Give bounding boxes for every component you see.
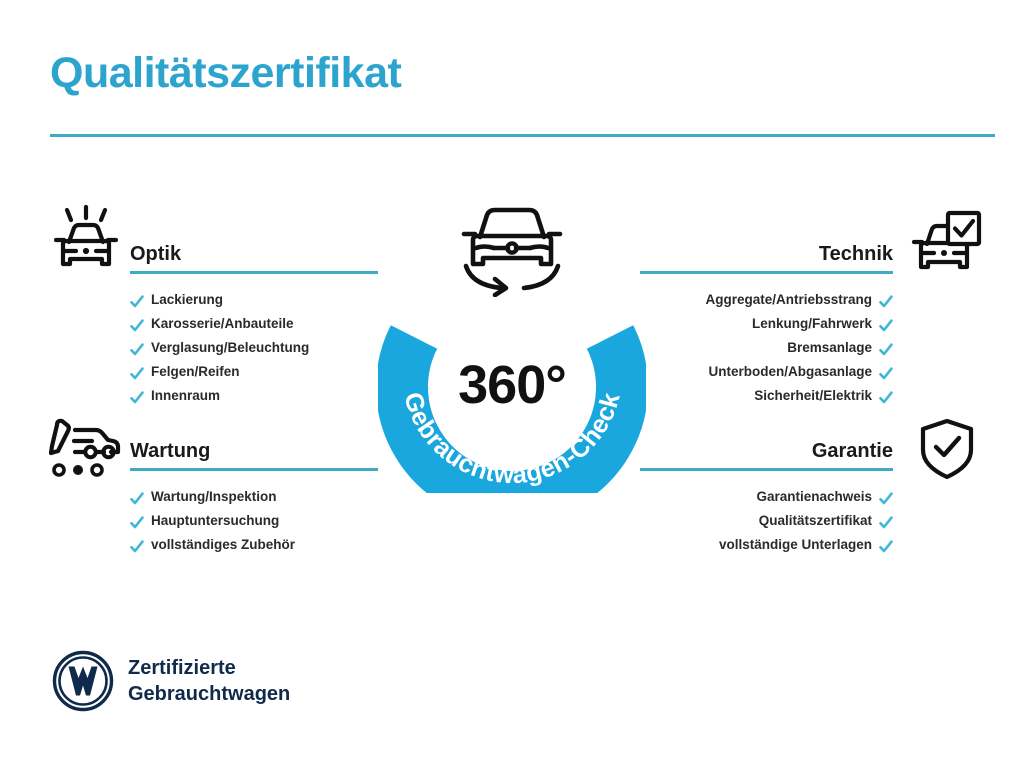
car-rotate-icon [454, 193, 570, 297]
check-icon [879, 490, 893, 504]
section-header: Garantie [640, 437, 893, 471]
list-item: Hauptuntersuchung [130, 509, 378, 533]
list-item: Lackierung [130, 288, 378, 312]
check-icon [130, 490, 144, 504]
list-item-label: Unterboden/Abgasanlage [708, 360, 872, 384]
section-divider [640, 271, 893, 274]
certificate-page: Qualitätszertifikat [0, 0, 1024, 768]
list-item: Innenraum [130, 384, 378, 408]
list-item: Unterboden/Abgasanlage [640, 360, 893, 384]
list-item-label: Garantienachweis [756, 485, 872, 509]
list-item: Wartung/Inspektion [130, 485, 378, 509]
list-item: Qualitätszertifikat [640, 509, 893, 533]
section-garantie: Garantie Garantienachweis Qualitätszerti… [640, 437, 893, 557]
badge-360-check: Gebrauchtwagen-Check 360° [378, 193, 646, 493]
list-item-label: Lenkung/Fahrwerk [752, 312, 872, 336]
list-item: Verglasung/Beleuchtung [130, 336, 378, 360]
list-item-label: vollständige Unterlagen [719, 533, 872, 557]
check-icon [879, 538, 893, 552]
list-item: Karosserie/Anbauteile [130, 312, 378, 336]
section-optik: Optik Lackierung Karosserie/Anbauteile [130, 240, 378, 408]
car-shine-icon [48, 204, 124, 278]
list-item: vollständige Unterlagen [640, 533, 893, 557]
list-item-label: Sicherheit/Elektrik [754, 384, 872, 408]
list-item-label: vollständiges Zubehör [151, 533, 295, 557]
list-item-label: Qualitätszertifikat [759, 509, 872, 533]
section-divider [130, 468, 378, 471]
footer-line-2: Gebrauchtwagen [128, 681, 290, 707]
checklist: Wartung/Inspektion Hauptuntersuchung vol… [130, 485, 378, 557]
list-item-label: Aggregate/Antriebsstrang [705, 288, 872, 312]
list-item: Aggregate/Antriebsstrang [640, 288, 893, 312]
section-header: Wartung [130, 437, 378, 471]
header-divider [50, 134, 995, 137]
check-icon [130, 317, 144, 331]
checklist: Lackierung Karosserie/Anbauteile Verglas… [130, 288, 378, 408]
pen-car-service-icon [48, 416, 124, 478]
checklist: Garantienachweis Qualitätszertifikat vol… [640, 485, 893, 557]
list-item: Felgen/Reifen [130, 360, 378, 384]
section-divider [640, 468, 893, 471]
vw-logo-lockup: Zertifizierte Gebrauchtwagen [52, 650, 290, 712]
check-icon [879, 514, 893, 528]
footer-text: Zertifizierte Gebrauchtwagen [128, 655, 290, 707]
section-title: Wartung [130, 437, 378, 465]
section-divider [130, 271, 378, 274]
section-title: Technik [640, 240, 893, 268]
list-item-label: Felgen/Reifen [151, 360, 240, 384]
car-checkbox-icon [910, 210, 982, 278]
badge-number: 360° [378, 358, 646, 412]
section-header: Optik [130, 240, 378, 274]
check-icon [879, 293, 893, 307]
list-item: vollständiges Zubehör [130, 533, 378, 557]
check-icon [130, 514, 144, 528]
check-icon [879, 317, 893, 331]
section-title: Garantie [640, 437, 893, 465]
list-item-label: Wartung/Inspektion [151, 485, 277, 509]
section-header: Technik [640, 240, 893, 274]
list-item: Bremsanlage [640, 336, 893, 360]
check-icon [130, 341, 144, 355]
section-technik: Technik Aggregate/Antriebsstrang Lenkung… [640, 240, 893, 408]
check-icon [130, 538, 144, 552]
section-wartung: Wartung Wartung/Inspektion Hauptuntersuc… [130, 437, 378, 557]
check-icon [130, 365, 144, 379]
check-icon [879, 389, 893, 403]
list-item-label: Innenraum [151, 384, 220, 408]
checklist: Aggregate/Antriebsstrang Lenkung/Fahrwer… [640, 288, 893, 408]
list-item-label: Hauptuntersuchung [151, 509, 279, 533]
vw-logo [52, 650, 114, 712]
footer-line-1: Zertifizierte [128, 655, 290, 681]
list-item-label: Lackierung [151, 288, 223, 312]
list-item: Sicherheit/Elektrik [640, 384, 893, 408]
check-icon [879, 365, 893, 379]
list-item-label: Karosserie/Anbauteile [151, 312, 294, 336]
section-title: Optik [130, 240, 378, 268]
list-item-label: Bremsanlage [787, 336, 872, 360]
check-icon [130, 293, 144, 307]
check-icon [879, 341, 893, 355]
shield-check-icon [918, 418, 976, 480]
check-icon [130, 389, 144, 403]
list-item-label: Verglasung/Beleuchtung [151, 336, 309, 360]
list-item: Lenkung/Fahrwerk [640, 312, 893, 336]
list-item: Garantienachweis [640, 485, 893, 509]
page-title: Qualitätszertifikat [50, 50, 401, 97]
